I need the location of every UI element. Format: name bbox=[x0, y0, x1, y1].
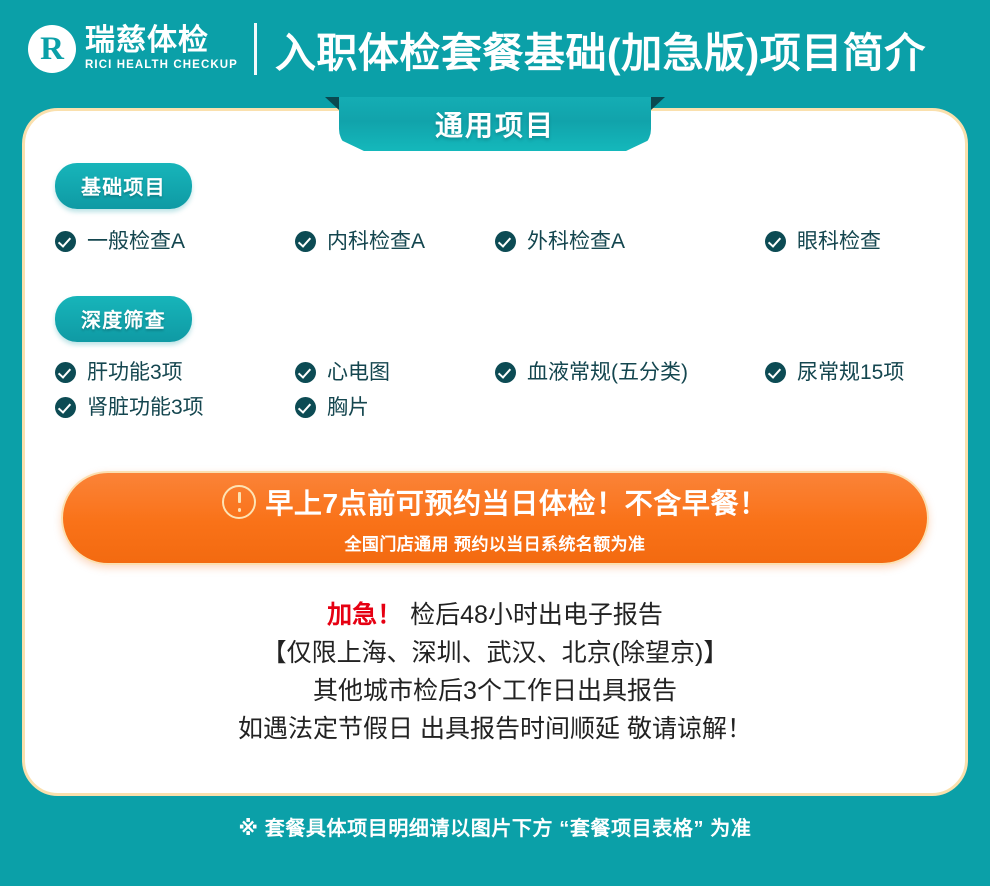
list-item-label: 肾脏功能3项 bbox=[87, 397, 204, 418]
note-line: 加急！检后48小时出电子报告 bbox=[25, 596, 965, 634]
check-icon bbox=[495, 362, 516, 383]
list-item[interactable]: 心电图 bbox=[295, 362, 495, 383]
section-deep-screening: 深度筛查 肝功能3项 心电图 血液常规(五分类) 尿常规15项 肾脏功能3项 bbox=[55, 296, 935, 418]
check-icon bbox=[295, 397, 316, 418]
ribbon-label: 通用项目 bbox=[435, 104, 555, 144]
list-item-label: 一般检查A bbox=[87, 231, 185, 252]
list-item[interactable]: 外科检查A bbox=[495, 231, 765, 252]
check-icon bbox=[295, 231, 316, 252]
items-grid-deep: 肝功能3项 心电图 血液常规(五分类) 尿常规15项 肾脏功能3项 胸片 bbox=[55, 362, 935, 418]
brand-logo-text: 瑞慈体检 RICI HEALTH CHECKUP bbox=[85, 25, 238, 72]
list-item[interactable]: 肾脏功能3项 bbox=[55, 397, 295, 418]
page-title: 入职体检套餐基础(加急版)项目简介 bbox=[275, 19, 926, 79]
list-item[interactable]: 肝功能3项 bbox=[55, 362, 295, 383]
check-icon bbox=[55, 397, 76, 418]
brand-logo: R 瑞慈体检 RICI HEALTH CHECKUP bbox=[28, 25, 238, 73]
list-item-label: 眼科检查 bbox=[797, 231, 881, 252]
header-divider bbox=[254, 23, 257, 75]
page-header: R 瑞慈体检 RICI HEALTH CHECKUP 入职体检套餐基础(加急版)… bbox=[0, 0, 990, 98]
check-icon bbox=[765, 362, 786, 383]
list-item[interactable]: 眼科检查 bbox=[765, 231, 985, 252]
list-item[interactable]: 血液常规(五分类) bbox=[495, 362, 765, 383]
content-card: 基础项目 一般检查A 内科检查A 外科检查A 眼科检查 深度筛查 bbox=[22, 108, 968, 796]
footer-note: ※ 套餐具体项目明细请以图片下方 “套餐项目表格” 为准 bbox=[0, 812, 990, 841]
list-item[interactable]: 尿常规15项 bbox=[765, 362, 985, 383]
note-text: 如遇法定节假日 出具报告时间顺延 敬请谅解！ bbox=[238, 715, 752, 743]
note-line: 【仅限上海、深圳、武汉、北京(除望京)】 bbox=[25, 634, 965, 672]
alert-title-row: 早上7点前可预约当日体检！不含早餐！ bbox=[222, 482, 767, 522]
list-item-label: 血液常规(五分类) bbox=[527, 362, 688, 383]
exclamation-icon bbox=[222, 485, 256, 519]
list-item-label: 尿常规15项 bbox=[797, 362, 904, 383]
ribbon-body: 通用项目 bbox=[339, 97, 651, 151]
check-icon bbox=[765, 231, 786, 252]
note-text: 检后48小时出电子报告 bbox=[410, 601, 663, 629]
section-pill-basic: 基础项目 bbox=[55, 163, 192, 209]
brand-name-en: RICI HEALTH CHECKUP bbox=[85, 58, 238, 73]
logo-mark-icon: R bbox=[28, 25, 76, 73]
section-pill-deep: 深度筛查 bbox=[55, 296, 192, 342]
list-item[interactable]: 胸片 bbox=[295, 397, 495, 418]
list-item-label: 胸片 bbox=[327, 397, 369, 418]
check-icon bbox=[55, 231, 76, 252]
list-item-label: 心电图 bbox=[327, 362, 390, 383]
alert-subtitle: 全国门店通用 预约以当日系统名额为准 bbox=[345, 530, 646, 555]
alert-banner: 早上7点前可预约当日体检！不含早餐！ 全国门店通用 预约以当日系统名额为准 bbox=[61, 471, 929, 565]
note-text: 【仅限上海、深圳、武汉、北京(除望京)】 bbox=[262, 639, 729, 667]
alert-title: 早上7点前可预约当日体检！不含早餐！ bbox=[265, 482, 767, 522]
check-icon bbox=[495, 231, 516, 252]
brand-name-cn: 瑞慈体检 bbox=[85, 25, 238, 57]
list-item[interactable]: 内科检查A bbox=[295, 231, 495, 252]
list-item-label: 内科检查A bbox=[327, 231, 425, 252]
list-item-label: 肝功能3项 bbox=[87, 362, 183, 383]
section-basic: 基础项目 一般检查A 内科检查A 外科检查A 眼科检查 bbox=[55, 163, 935, 252]
check-icon bbox=[55, 362, 76, 383]
note-text: 其他城市检后3个工作日出具报告 bbox=[313, 677, 677, 705]
notes-block: 加急！检后48小时出电子报告 【仅限上海、深圳、武汉、北京(除望京)】 其他城市… bbox=[25, 596, 965, 748]
note-emphasis: 加急！ bbox=[327, 601, 402, 629]
check-icon bbox=[295, 362, 316, 383]
note-line: 其他城市检后3个工作日出具报告 bbox=[25, 672, 965, 710]
list-item-label: 外科检查A bbox=[527, 231, 625, 252]
items-grid-basic: 一般检查A 内科检查A 外科检查A 眼科检查 bbox=[55, 231, 935, 252]
list-item[interactable]: 一般检查A bbox=[55, 231, 295, 252]
note-line: 如遇法定节假日 出具报告时间顺延 敬请谅解！ bbox=[25, 710, 965, 748]
ribbon-tab: 通用项目 bbox=[325, 97, 665, 151]
